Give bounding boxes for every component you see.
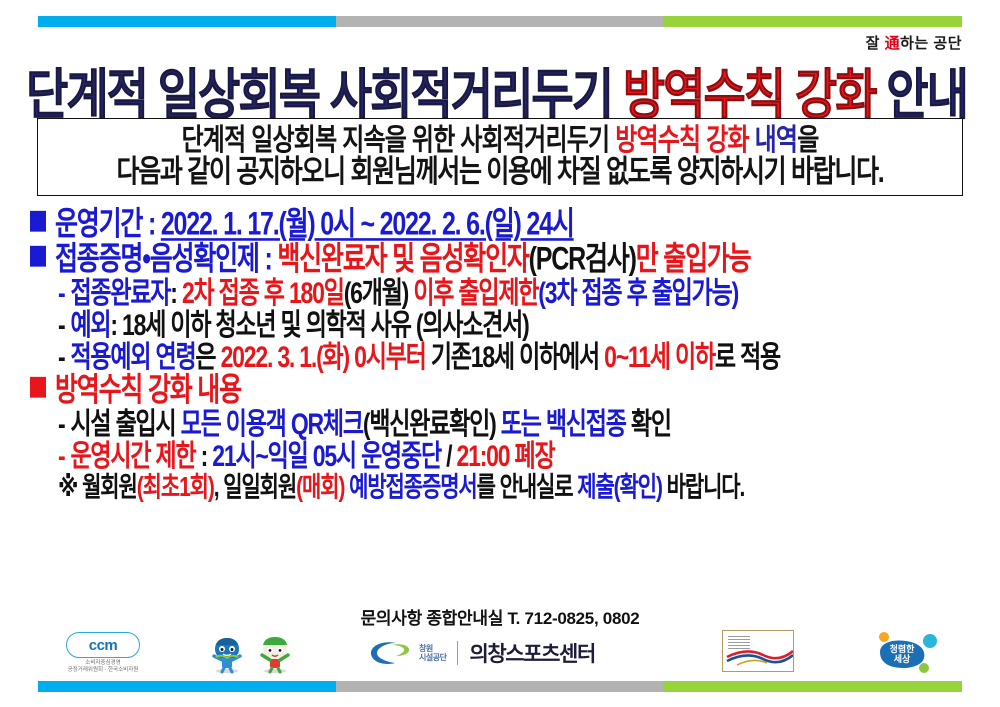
note-black-2: , 일일회원 bbox=[214, 473, 296, 503]
bar-segment-gray bbox=[336, 681, 663, 692]
dash-marker: - bbox=[58, 276, 64, 310]
footer-logo-strip: ccm 소비자중심경영 공정거래위원회 · 한국소비자원 bbox=[0, 630, 1000, 678]
pass-red-2: 만 출입가능 bbox=[636, 241, 751, 277]
bar-segment-gray bbox=[336, 16, 663, 27]
age-red-1: 2022. 3. 1.(화) 0시부터 bbox=[221, 340, 426, 374]
certificate-frame-icon bbox=[722, 630, 794, 672]
list-item-exception: -예외: 18세 이하 청소년 및 의학적 사유 (의사소견서) bbox=[30, 314, 978, 337]
dash-marker: - bbox=[58, 407, 64, 441]
square-bullet-icon bbox=[30, 246, 46, 267]
list-item-completed: -접종완료자: 2차 접종 후 180일(6개월) 이후 출입제한(3차 접종 … bbox=[30, 282, 978, 305]
subtitle-box: 단계적 일상회복 지속을 위한 사회적거리두기 방역수칙 강화 내역을 다음과 … bbox=[37, 118, 963, 196]
list-item-age-exception: -적용예외 연령은 2022. 3. 1.(화) 0시부터 기존18세 이하에서… bbox=[30, 346, 978, 369]
asterisk-mark-icon: ※ bbox=[58, 473, 77, 503]
list-item-operating-hours: -운영시간 제한 : 21시~익일 05시 운영중단 / 21:00 폐장 bbox=[30, 445, 978, 468]
subtitle-line-2: 다음과 같이 공지하오니 회원님께서는 이용에 차질 없도록 양지하시기 바랍니… bbox=[117, 155, 884, 191]
contact-info: 문의사항 종합안내실 T. 712-0825, 0802 bbox=[0, 604, 1000, 629]
footer-color-bar bbox=[38, 681, 962, 692]
pass-label: 접종증명•음성확인제 : bbox=[55, 241, 277, 277]
mascot-green-icon bbox=[255, 634, 295, 674]
age-blue-1: 적용예외 연령 bbox=[70, 340, 195, 374]
completed-red-1: 2차 접종 후 180일 bbox=[177, 276, 344, 310]
bar-segment-blue bbox=[38, 16, 336, 27]
note-red-2: (매회) bbox=[296, 473, 344, 503]
notice-poster: 잘 通하는 공단 단계적 일상회복 사회적거리두기 방역수칙 강화 안내 단계적… bbox=[0, 0, 1000, 707]
sports-org-line-2: 시설공단 bbox=[419, 653, 446, 662]
ccm-sub-line-2: 공정거래위원회 · 한국소비자원 bbox=[62, 667, 144, 674]
integrity-blob-icon: 청렴한 세상 bbox=[868, 630, 946, 674]
subtitle-l1-red: 방역수칙 강화 bbox=[615, 124, 749, 158]
hours-red-1: 운영시간 제한 bbox=[70, 439, 195, 473]
completed-red-2: 이후 출입제한 bbox=[408, 276, 538, 310]
note-blue-2: 제출(확인) bbox=[577, 473, 662, 503]
hours-black-1: : bbox=[195, 439, 212, 473]
list-item-vaccine-pass: 접종증명•음성확인제 : 백신완료자 및 음성확인자(PCR검사)만 출입가능 bbox=[30, 247, 978, 272]
dash-marker: - bbox=[58, 439, 64, 473]
sports-org-line-1: 창원 bbox=[419, 644, 446, 653]
period-label: 운영기간 : bbox=[55, 206, 161, 242]
age-black-3: 로 적용 bbox=[715, 340, 780, 374]
note-black-4: 바랍니다. bbox=[662, 473, 744, 503]
exception-blue-1: 예외 bbox=[70, 308, 110, 342]
notice-body: 운영기간 : 2022. 1. 17.(월) 0시 ~ 2022. 2. 6.(… bbox=[30, 212, 978, 498]
hours-black-2: / bbox=[441, 439, 457, 473]
ccm-certification-logo: ccm 소비자중심경영 공정거래위원회 · 한국소비자원 bbox=[62, 630, 144, 676]
age-black-1: 은 bbox=[195, 340, 220, 374]
tagline-post: 하는 공단 bbox=[900, 35, 962, 52]
age-black-2: 기존18세 이하에서 bbox=[426, 340, 604, 374]
tagline-hanja: 通 bbox=[885, 35, 901, 52]
bar-segment-green bbox=[663, 16, 962, 27]
mascot-blue-icon bbox=[207, 634, 247, 674]
hours-red-2: 21:00 폐장 bbox=[457, 439, 555, 473]
subtitle-line-1: 단계적 일상회복 지속을 위한 사회적거리두기 방역수칙 강화 내역을 bbox=[182, 124, 819, 158]
ccm-sub-line-1: 소비자중심경영 bbox=[62, 660, 144, 667]
bar-segment-blue bbox=[38, 681, 336, 692]
changwon-facilities-name: 창원 시설공단 bbox=[419, 644, 446, 662]
square-bullet-icon bbox=[30, 377, 46, 398]
ccm-oval-icon: ccm bbox=[66, 632, 140, 658]
note-black-3: 를 안내실로 bbox=[477, 473, 578, 503]
qr-black-2: (백신완료확인) bbox=[363, 407, 496, 441]
completed-blue-1: 접종완료자 bbox=[70, 276, 170, 310]
subtitle-l1-a: 단계적 일상회복 지속을 위한 사회적거리두기 bbox=[182, 124, 616, 158]
uichang-sports-center-logo: 창원 시설공단 의창스포츠센터 bbox=[368, 630, 638, 676]
integrity-campaign-logo: 청렴한 세상 bbox=[868, 630, 948, 676]
note-red-1: (최초1회) bbox=[137, 473, 214, 503]
sports-center-name: 의창스포츠센터 bbox=[469, 638, 594, 668]
pass-red-1: 백신완료자 및 음성확인자 bbox=[277, 241, 528, 277]
period-value: 2022. 1. 17.(월) 0시 ~ 2022. 2. 6.(일) 24시 bbox=[161, 206, 574, 242]
header-color-bar bbox=[38, 16, 962, 27]
qr-black-3: 확인 bbox=[626, 407, 671, 441]
note-black-1: 월회원 bbox=[77, 473, 136, 503]
organization-tagline: 잘 通하는 공단 bbox=[866, 32, 962, 53]
dash-marker: - bbox=[58, 308, 64, 342]
subtitle-l1-navy: 내역 bbox=[749, 124, 797, 158]
certificate-plaque-logo bbox=[722, 630, 798, 676]
title-part-red: 방역수칙 강화 bbox=[623, 64, 876, 125]
logo-divider bbox=[457, 641, 458, 665]
subtitle-l1-b: 을 bbox=[797, 124, 818, 158]
pass-black-1: (PCR검사) bbox=[529, 241, 636, 277]
completed-blue-2: (3차 접종 후 출입가능) bbox=[538, 276, 738, 310]
list-item-rules-header: 방역수칙 강화 내용 bbox=[30, 378, 978, 403]
completed-black-2: (6개월) bbox=[344, 276, 408, 310]
integrity-line-1: 청렴한 bbox=[890, 643, 916, 654]
hours-blue-1: 21시~익일 05시 운영중단 bbox=[212, 439, 441, 473]
qr-black-1: 시설 출입시 bbox=[70, 407, 180, 441]
title-part-navy-2: 안내 bbox=[876, 64, 967, 125]
exception-black-1: : 18세 이하 청소년 및 의학적 사유 (의사소견서) bbox=[110, 308, 528, 342]
title-part-navy-1: 단계적 일상회복 사회적거리두기 bbox=[26, 64, 623, 125]
age-red-2: 0~11세 이하 bbox=[604, 340, 715, 374]
dash-marker: - bbox=[58, 340, 64, 374]
changwon-swoosh-icon bbox=[368, 638, 412, 668]
note-blue-1: 예방접종증명서 bbox=[344, 473, 476, 503]
qr-blue-2: 또는 백신접종 bbox=[496, 407, 626, 441]
tagline-pre: 잘 bbox=[866, 35, 885, 52]
ccm-subtext: 소비자중심경영 공정거래위원회 · 한국소비자원 bbox=[62, 660, 144, 674]
qr-blue-1: 모든 이용객 QR체크 bbox=[181, 407, 363, 441]
list-item-period: 운영기간 : 2022. 1. 17.(월) 0시 ~ 2022. 2. 6.(… bbox=[30, 212, 978, 237]
integrity-line-2: 세상 bbox=[894, 653, 911, 664]
rules-header-label: 방역수칙 강화 내용 bbox=[55, 372, 241, 408]
bar-segment-green bbox=[663, 681, 962, 692]
square-bullet-icon bbox=[30, 211, 46, 232]
list-item-footnote: ※ 월회원(최초1회), 일일회원(매회) 예방접종증명서를 안내실로 제출(확… bbox=[30, 477, 978, 498]
ccm-mark-text: ccm bbox=[89, 637, 118, 654]
mascot-pair-logo bbox=[205, 630, 315, 676]
list-item-qr-check: -시설 출입시 모든 이용객 QR체크(백신완료확인) 또는 백신접종 확인 bbox=[30, 413, 978, 436]
